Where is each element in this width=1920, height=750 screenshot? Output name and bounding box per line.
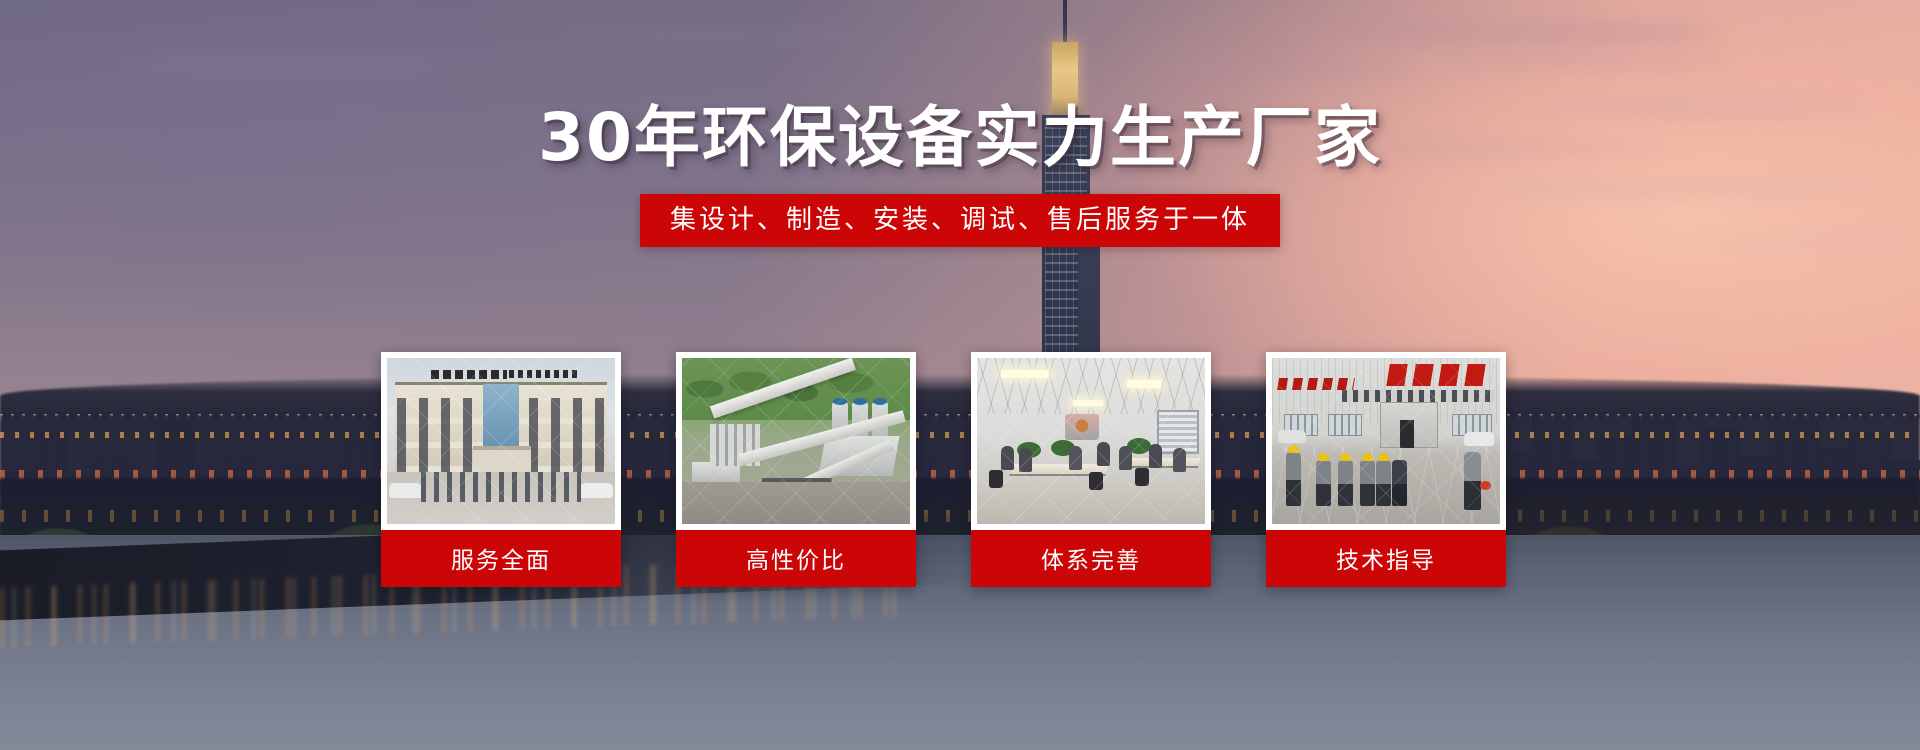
ceiling-light-panel [1127,380,1161,388]
factory-side-door [1400,420,1414,448]
parked-car [1464,432,1494,446]
card-label: 服务全面 [381,530,621,587]
banner-subtitle-badge: 集设计、制造、安装、调试、售后服务于一体 [640,194,1280,247]
wall-decoration [1065,414,1099,440]
card-label: 体系完善 [971,530,1211,587]
staff-lineup [421,472,581,502]
card-label: 高性价比 [676,530,916,587]
hero-banner: 30年环保设备实力生产厂家 集设计、制造、安装、调试、售后服务于一体 服务全面 [0,0,1920,750]
card-photo-aerial-view-industrial-plant [682,358,910,524]
office-worker [1069,446,1082,470]
parked-car [579,483,613,498]
office-chair [989,470,1003,488]
red-hardhat [1480,481,1491,490]
feature-card[interactable]: 服务全面 [381,352,621,587]
office-worker [1097,442,1110,466]
worker-with-hardhat [1376,460,1391,506]
factory-slogan-text [1277,378,1355,390]
card-photo-office-interior-with-staff [977,358,1205,524]
factory-slogan-text [1386,364,1493,386]
banner-headline: 30年环保设备实力生产厂家 [0,103,1920,172]
worker [1392,460,1407,506]
office-worker [1119,446,1132,470]
feature-card[interactable]: 高性价比 [676,352,916,587]
feature-card-row: 服务全面 高性价比 [381,352,1506,587]
parked-car [389,483,423,498]
worker-with-hardhat [1338,460,1353,506]
card-photo-workers-in-front-of-factory [1272,358,1500,524]
office-worker [1001,446,1014,470]
ceiling-light-panel [1073,400,1103,406]
tower-spire [1063,0,1067,45]
office-chair [1135,468,1149,486]
office-worker [1173,448,1186,472]
factory-window [1328,414,1362,436]
plant-yard [682,482,910,524]
worker-with-hardhat [1360,460,1375,506]
office-worker [1149,444,1162,468]
supervisor [1464,452,1481,510]
factory-vent-strip [1342,390,1494,402]
building-phone-number [509,370,581,378]
card-photo-company-headquarters-building-with-staff [387,358,615,524]
ceiling-light-panel [1001,370,1049,378]
feature-card[interactable]: 技术指导 [1266,352,1506,587]
office-desk [1126,458,1200,468]
office-worker [1019,448,1032,472]
worker-with-hardhat [1316,460,1331,506]
card-label: 技术指导 [1266,530,1506,587]
feature-card[interactable]: 体系完善 [971,352,1211,587]
building-entrance-portico [473,446,531,474]
banner-subtitle-wrap: 集设计、制造、安装、调试、售后服务于一体 [0,194,1920,247]
office-chair [1089,472,1103,490]
parked-car [1278,430,1306,443]
worker-with-hardhat [1286,452,1301,506]
building-sign-text [431,370,507,379]
